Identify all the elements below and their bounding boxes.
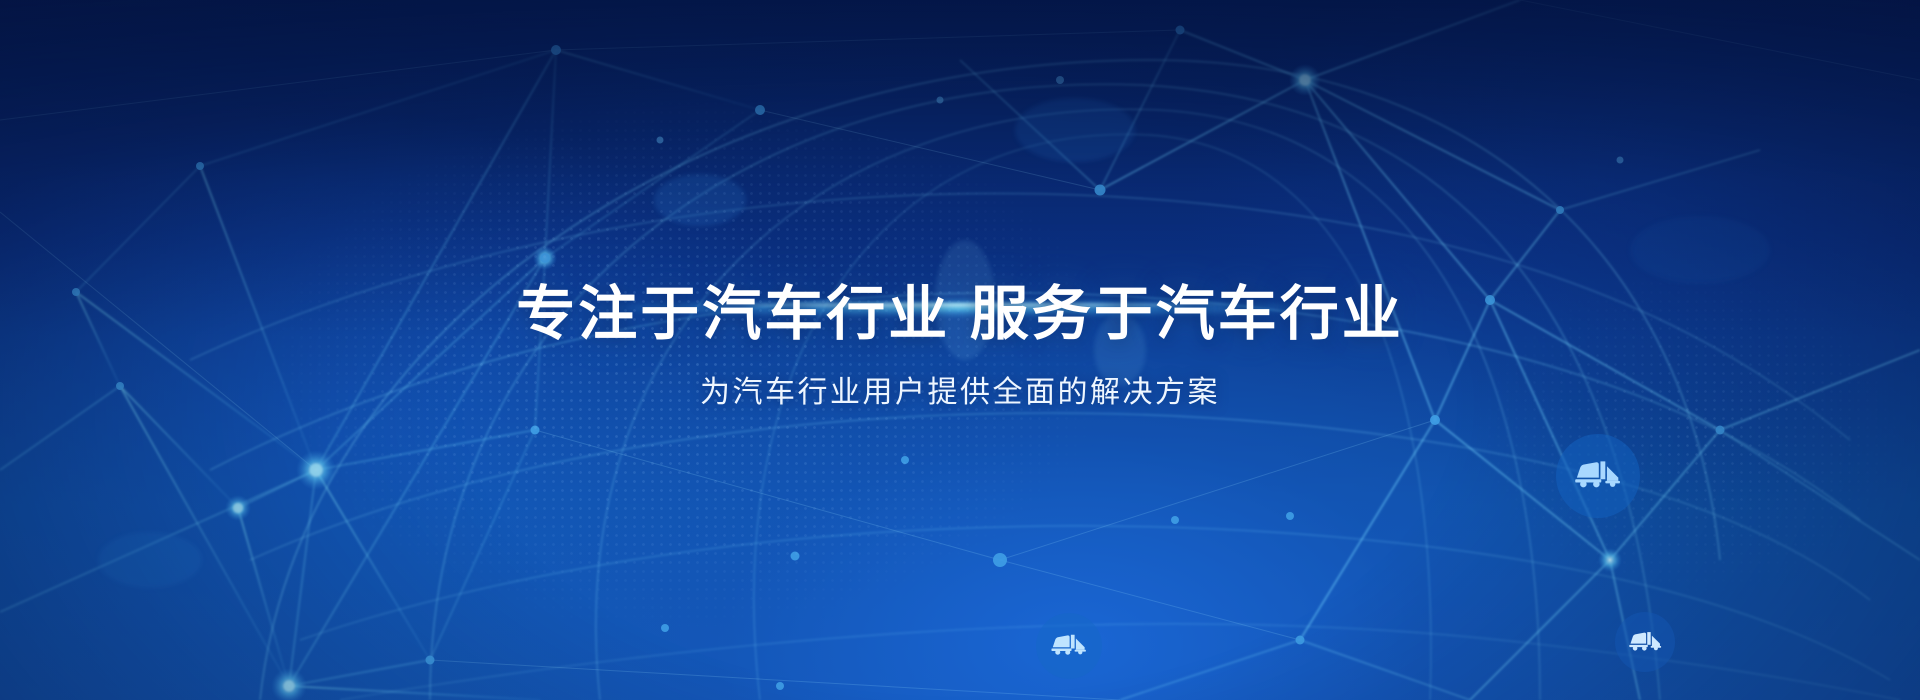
hero-title: 专注于汽车行业 服务于汽车行业 bbox=[516, 284, 1403, 345]
hero-banner: 专注于汽车行业 服务于汽车行业 为汽车行业用户提供全面的解决方案 bbox=[0, 0, 1920, 700]
hero-content: 专注于汽车行业 服务于汽车行业 为汽车行业用户提供全面的解决方案 bbox=[0, 0, 1920, 700]
hero-subtitle: 为汽车行业用户提供全面的解决方案 bbox=[700, 367, 1220, 411]
